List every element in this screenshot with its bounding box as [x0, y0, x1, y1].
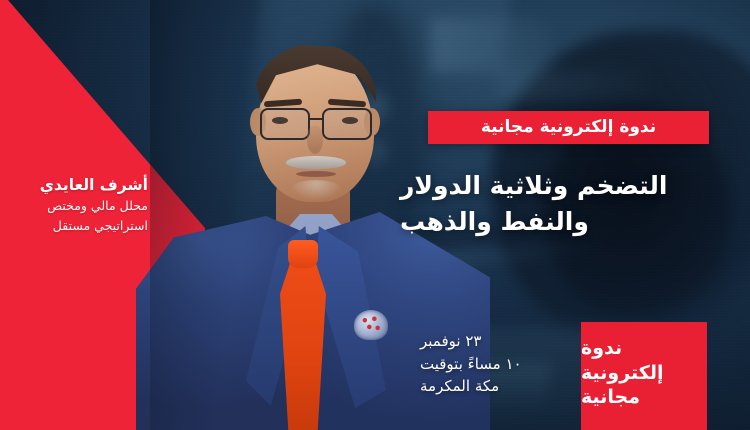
headline-title: التضخم وثلاثية الدولار والنفط والذهب: [400, 168, 710, 239]
free-webinar-pill-label: ندوة إلكترونية مجانية: [481, 119, 656, 136]
portrait-necktie-knot: [288, 240, 318, 268]
free-webinar-cta-box[interactable]: ندوة إلكترونية مجانية: [581, 322, 707, 430]
speaker-info-block: أشرف العايدي محلل مالي ومختص استراتيجي م…: [0, 176, 148, 234]
portrait-chin-beard: [290, 180, 342, 200]
headline-line-2: والنفط والذهب: [400, 204, 710, 240]
portrait-mouth: [296, 171, 336, 177]
portrait-nose: [307, 126, 323, 154]
free-webinar-pill-banner: ندوة إلكترونية مجانية: [428, 111, 709, 144]
event-time: ١٠ مساءً بتوقيت: [420, 353, 572, 376]
eyeglass-bridge: [308, 118, 324, 120]
event-timezone: مكة المكرمة: [420, 375, 572, 398]
eyeglass-lens-right: [322, 108, 372, 140]
portrait-necktie: [280, 246, 326, 430]
cta-line-1: ندوة: [581, 336, 697, 361]
event-datetime-block: ٢٣ نوفمبر ١٠ مساءً بتوقيت مكة المكرمة: [420, 330, 572, 398]
portrait-pocket-square: [354, 310, 388, 340]
portrait-mustache: [286, 156, 346, 169]
speaker-title-line-1: محلل مالي ومختص: [0, 197, 148, 214]
webinar-promo-banner: أشرف العايدي محلل مالي ومختص استراتيجي م…: [0, 0, 750, 430]
headline-line-1: التضخم وثلاثية الدولار: [400, 168, 710, 204]
speaker-name: أشرف العايدي: [0, 176, 148, 195]
event-date: ٢٣ نوفمبر: [420, 330, 572, 353]
cta-line-2: إلكترونية: [581, 361, 697, 386]
cta-line-3: مجانية: [581, 385, 697, 410]
eyeglass-lens-left: [260, 108, 310, 140]
speaker-title-line-2: استراتيجي مستقل: [0, 217, 148, 234]
